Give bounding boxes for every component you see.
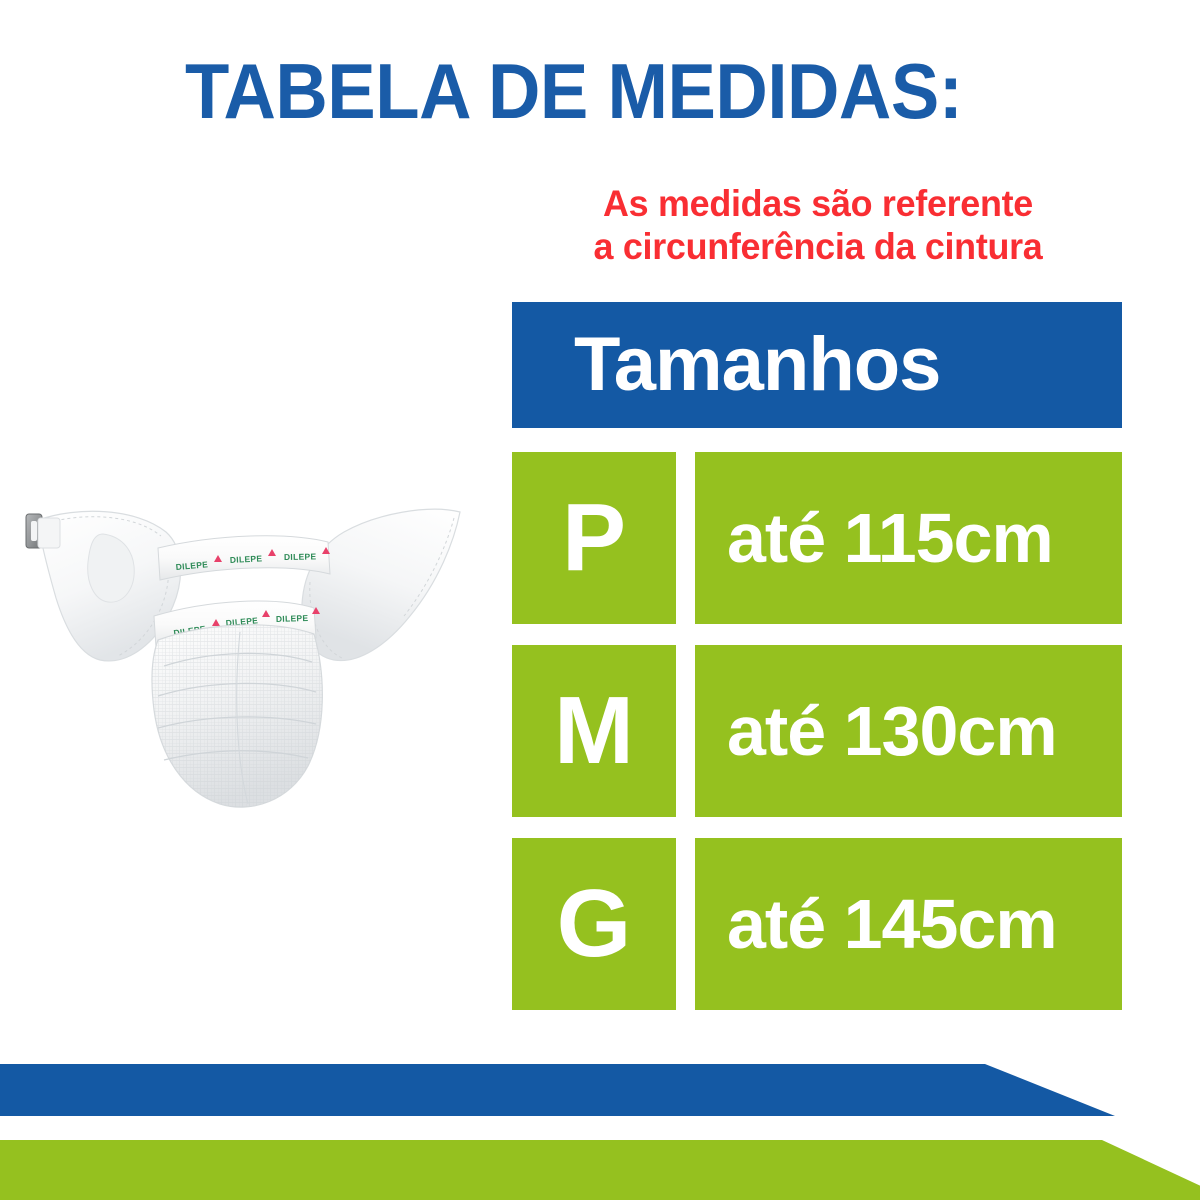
cell-gap: [676, 645, 695, 817]
measurement-table-infographic: TABELA DE MEDIDAS: As medidas são refere…: [0, 0, 1200, 1200]
page-title: TABELA DE MEDIDAS:: [185, 52, 1022, 130]
measure-cell-m: até 130cm: [695, 645, 1122, 817]
brand-label-upper-3: DILEPE: [284, 551, 317, 562]
table-row: M até 130cm: [512, 645, 1122, 817]
brand-label-lower-3: DILEPE: [276, 613, 309, 624]
table-row: P até 115cm: [512, 452, 1122, 624]
measure-cell-p: até 115cm: [695, 452, 1122, 624]
product-photo: DILEPE DILEPE DILEPE DILEPE DILEPE DILEP…: [8, 470, 488, 830]
size-table: Tamanhos P até 115cm M até 130cm G até 1…: [512, 302, 1122, 1010]
size-cell-m: M: [512, 645, 676, 817]
decorative-bar-blue: [0, 1064, 1115, 1116]
measurement-note-line-1: As medidas são referente: [521, 183, 1115, 226]
measurement-note: As medidas são referente a circunferênci…: [512, 183, 1124, 268]
measurement-note-line-2: a circunferência da cintura: [521, 226, 1115, 269]
brand-label-upper-2: DILEPE: [230, 553, 263, 565]
size-table-header-label: Tamanhos: [574, 327, 940, 403]
cell-gap: [676, 452, 695, 624]
decorative-bar-green: [0, 1140, 1200, 1200]
cell-gap: [676, 838, 695, 1010]
size-cell-g: G: [512, 838, 676, 1010]
upper-elastic-band: DILEPE DILEPE DILEPE: [158, 536, 330, 580]
table-row: G até 145cm: [512, 838, 1122, 1010]
measure-cell-g: até 145cm: [695, 838, 1122, 1010]
size-table-header: Tamanhos: [512, 302, 1122, 428]
product-pouch: [152, 625, 322, 807]
strap-adjuster-clip: [26, 514, 60, 548]
product-right-wing: [302, 509, 460, 660]
size-cell-p: P: [512, 452, 676, 624]
